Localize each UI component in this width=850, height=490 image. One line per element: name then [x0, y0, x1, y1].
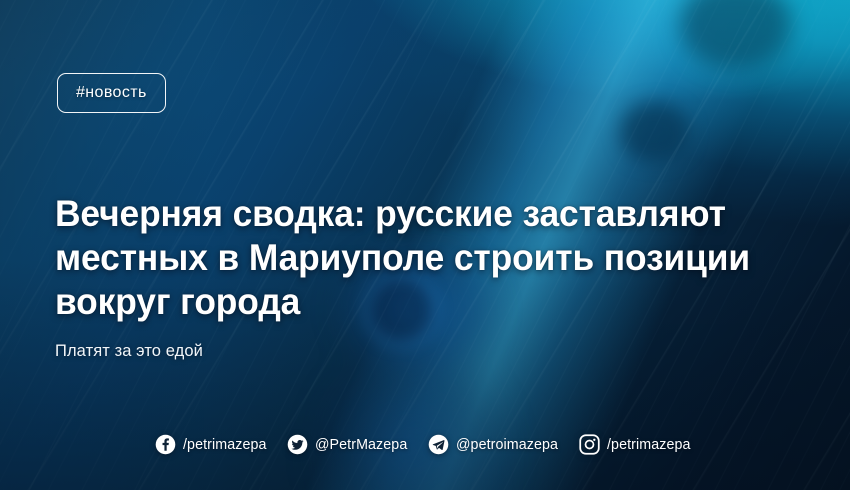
instagram-icon	[579, 434, 600, 455]
category-tag-badge[interactable]: #новость	[57, 73, 166, 113]
social-handle-twitter: @PetrMazepa	[315, 436, 407, 453]
telegram-icon	[428, 434, 449, 455]
facebook-icon	[155, 434, 176, 455]
news-card: #новость Вечерняя сводка: русские застав…	[0, 0, 850, 490]
twitter-icon	[287, 434, 308, 455]
social-link-facebook[interactable]: /petrimazepa	[155, 434, 271, 455]
headline: Вечерняя сводка: русские заставляют мест…	[55, 192, 762, 324]
social-link-telegram[interactable]: @petroimazepa	[428, 434, 563, 455]
social-links-bar: /petrimazepa @PetrMazepa @petroimazepa	[0, 434, 850, 455]
social-handle-instagram: /petrimazepa	[607, 436, 691, 453]
social-handle-facebook: /petrimazepa	[183, 436, 267, 453]
social-link-twitter[interactable]: @PetrMazepa	[287, 434, 412, 455]
card-content: #новость Вечерняя сводка: русские застав…	[0, 0, 850, 490]
subtitle: Платят за это едой	[55, 341, 203, 361]
social-link-instagram[interactable]: /petrimazepa	[579, 434, 695, 455]
social-handle-telegram: @petroimazepa	[456, 436, 558, 453]
